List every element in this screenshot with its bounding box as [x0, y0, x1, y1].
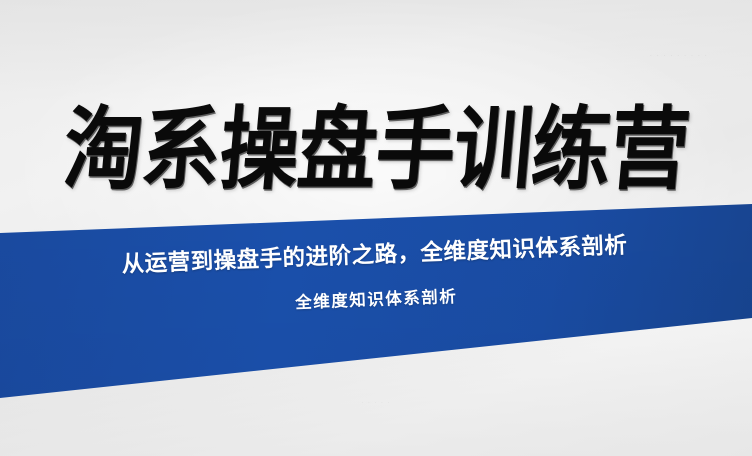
title-container: 淘系操盘手训练营	[0, 96, 752, 204]
course-poster: · · · · · · · · · 淘系操盘手训练营 从运营到操盘手的进阶之路，…	[0, 0, 752, 456]
watermark-bottom-center: · · · · ·	[361, 399, 390, 407]
page-title: 淘系操盘手训练营	[60, 105, 692, 195]
watermark-top-right: · · · · · · · · ·	[650, 52, 708, 60]
blue-banner	[0, 0, 752, 456]
